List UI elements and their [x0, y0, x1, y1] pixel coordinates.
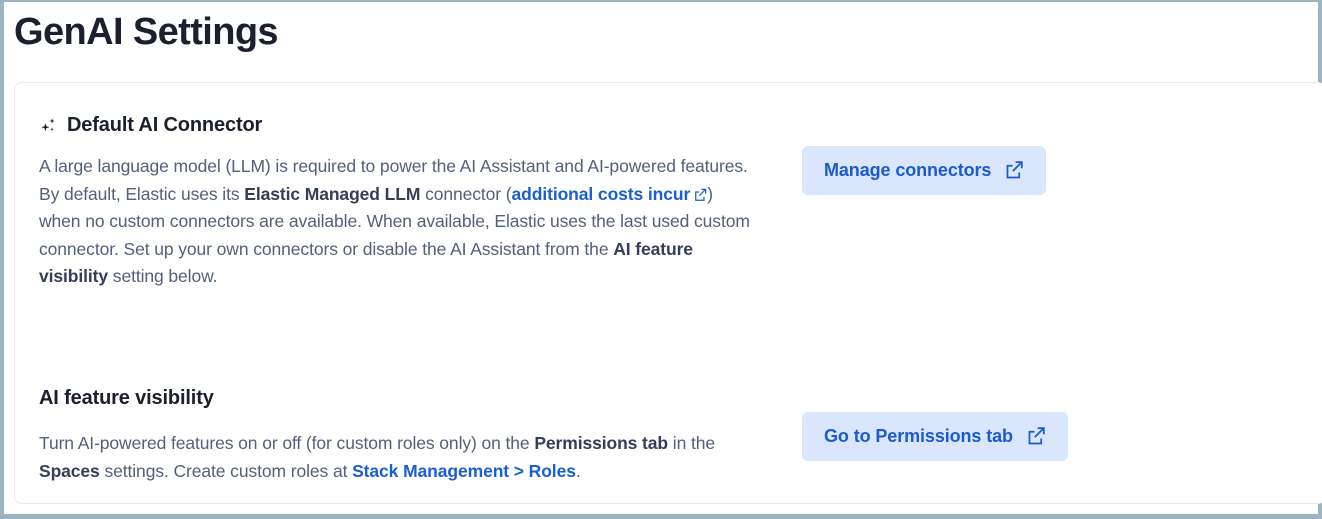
external-link-icon: [1027, 426, 1046, 445]
visibility-desc-part3: settings. Create custom roles at: [100, 461, 352, 481]
sparkles-icon: [39, 117, 58, 136]
page-title: GenAI Settings: [14, 5, 278, 59]
visibility-section-description: Turn AI-powered features on or off (for …: [39, 430, 769, 485]
go-to-permissions-tab-button[interactable]: Go to Permissions tab: [802, 412, 1068, 461]
connector-desc-part2: connector (: [420, 184, 511, 204]
visibility-desc-strong-permissions-tab: Permissions tab: [534, 433, 668, 453]
manage-connectors-button[interactable]: Manage connectors: [802, 146, 1046, 195]
visibility-desc-part1: Turn AI-powered features on or off (for …: [39, 433, 534, 453]
connector-section-content: Default AI Connector A large language mo…: [39, 83, 769, 291]
visibility-section-heading: AI feature visibility: [39, 387, 769, 410]
stack-management-roles-link[interactable]: Stack Management > Roles: [352, 461, 576, 481]
visibility-desc-part2: in the: [668, 433, 715, 453]
connector-desc-part4: setting below.: [108, 266, 217, 286]
genai-settings-page: GenAI Settings Default AI Connector: [0, 0, 1322, 519]
external-link-icon: [694, 182, 707, 195]
connector-section-heading-label: Default AI Connector: [67, 114, 262, 137]
additional-costs-incur-link[interactable]: additional costs incur: [512, 184, 708, 204]
connector-section-heading: Default AI Connector: [39, 114, 769, 137]
visibility-section-content: AI feature visibility Turn AI-powered fe…: [39, 358, 769, 485]
manage-connectors-button-label: Manage connectors: [824, 160, 991, 181]
visibility-desc-strong-spaces: Spaces: [39, 461, 100, 481]
visibility-section-heading-label: AI feature visibility: [39, 387, 214, 410]
connector-desc-strong-managed-llm: Elastic Managed LLM: [244, 184, 420, 204]
additional-costs-incur-link-label: additional costs incur: [512, 184, 691, 204]
visibility-desc-part4: .: [576, 461, 581, 481]
go-to-permissions-tab-button-label: Go to Permissions tab: [824, 426, 1013, 447]
connector-section-description: A large language model (LLM) is required…: [39, 153, 753, 291]
external-link-icon: [1005, 160, 1024, 179]
settings-card: Default AI Connector A large language mo…: [14, 82, 1322, 504]
